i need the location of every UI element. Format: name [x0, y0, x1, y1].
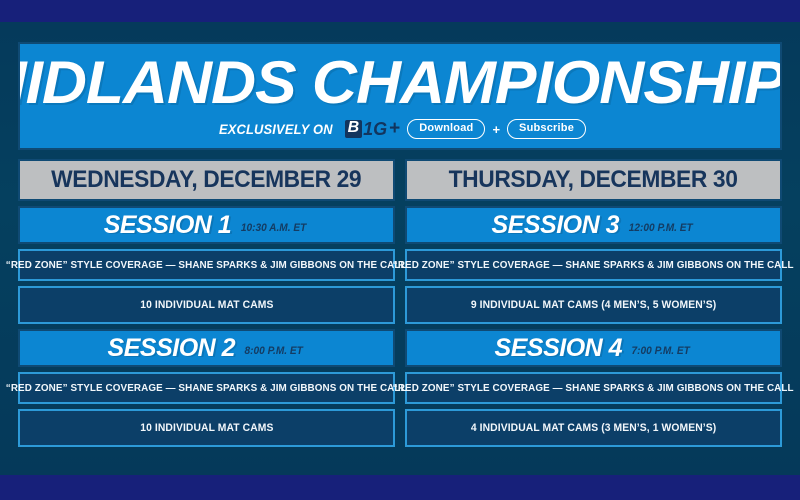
session-coverage-2: “RED ZONE” STYLE COVERAGE — SHANE SPARKS… — [18, 372, 395, 404]
session-header-4: SESSION 4 7:00 P.M. ET — [405, 329, 782, 367]
session-name: SESSION 1 — [104, 211, 232, 240]
matcams-label: 4 INDIVIDUAL MAT CAMS (3 MEN’S, 1 WOMEN’… — [471, 422, 716, 434]
session-matcams-1: 10 INDIVIDUAL MAT CAMS — [18, 286, 395, 324]
session-name: SESSION 4 — [495, 334, 623, 363]
schedule-field: MIDLANDS CHAMPIONSHIPS EXCLUSIVELY ON B1… — [0, 22, 800, 475]
title-banner: MIDLANDS CHAMPIONSHIPS EXCLUSIVELY ON B1… — [18, 42, 782, 150]
exclusively-on-label: EXCLUSIVELY ON — [219, 121, 333, 137]
session-time: 7:00 P.M. ET — [632, 345, 690, 357]
session-coverage-1: “RED ZONE” STYLE COVERAGE — SHANE SPARKS… — [18, 249, 395, 281]
b1g-b-letter: B — [345, 120, 363, 138]
session-time: 8:00 P.M. ET — [245, 345, 303, 357]
matcams-label: 9 INDIVIDUAL MAT CAMS (4 MEN’S, 5 WOMEN’… — [471, 299, 716, 311]
day-header-thursday: THURSDAY, DECEMBER 30 — [405, 159, 782, 201]
subscribe-button[interactable]: Subscribe — [507, 119, 586, 139]
matcams-label: 10 INDIVIDUAL MAT CAMS — [140, 299, 273, 311]
session-matcams-3: 9 INDIVIDUAL MAT CAMS (4 MEN’S, 5 WOMEN’… — [405, 286, 782, 324]
coverage-label: “RED ZONE” STYLE COVERAGE — SHANE SPARKS… — [6, 259, 407, 271]
session-header-3: SESSION 3 12:00 P.M. ET — [405, 206, 782, 244]
day-column-wednesday: WEDNESDAY, DECEMBER 29 SESSION 1 10:30 A… — [18, 159, 395, 447]
session-time: 10:30 A.M. ET — [241, 222, 306, 234]
session-header-1: SESSION 1 10:30 A.M. ET — [18, 206, 395, 244]
b1g-plus-symbol: + — [389, 118, 400, 140]
session-time: 12:00 P.M. ET — [629, 222, 693, 234]
download-button[interactable]: Download — [407, 119, 485, 139]
session-header-2: SESSION 2 8:00 P.M. ET — [18, 329, 395, 367]
day-header-label: WEDNESDAY, DECEMBER 29 — [51, 166, 361, 194]
b1g-1g-text: 1G — [363, 120, 387, 138]
plus-separator: + — [492, 122, 500, 137]
session-name: SESSION 3 — [492, 211, 620, 240]
day-header-wednesday: WEDNESDAY, DECEMBER 29 — [18, 159, 395, 201]
session-coverage-3: “RED ZONE” STYLE COVERAGE — SHANE SPARKS… — [405, 249, 782, 281]
session-matcams-4: 4 INDIVIDUAL MAT CAMS (3 MEN’S, 1 WOMEN’… — [405, 409, 782, 447]
day-column-thursday: THURSDAY, DECEMBER 30 SESSION 3 12:00 P.… — [405, 159, 782, 447]
coverage-label: “RED ZONE” STYLE COVERAGE — SHANE SPARKS… — [6, 382, 407, 394]
promo-graphic: MIDLANDS CHAMPIONSHIPS EXCLUSIVELY ON B1… — [0, 0, 800, 500]
broadcast-line: EXCLUSIVELY ON B1G+ Download + Subscribe — [214, 118, 586, 140]
b1g-plus-logo: B1G+ — [345, 118, 401, 140]
day-header-label: THURSDAY, DECEMBER 30 — [449, 166, 738, 194]
session-name: SESSION 2 — [108, 334, 236, 363]
session-coverage-4: “RED ZONE” STYLE COVERAGE — SHANE SPARKS… — [405, 372, 782, 404]
page-title: MIDLANDS CHAMPIONSHIPS — [18, 54, 782, 111]
session-matcams-2: 10 INDIVIDUAL MAT CAMS — [18, 409, 395, 447]
schedule-grid: WEDNESDAY, DECEMBER 29 SESSION 1 10:30 A… — [18, 159, 782, 447]
coverage-label: “RED ZONE” STYLE COVERAGE — SHANE SPARKS… — [393, 259, 794, 271]
coverage-label: “RED ZONE” STYLE COVERAGE — SHANE SPARKS… — [393, 382, 794, 394]
matcams-label: 10 INDIVIDUAL MAT CAMS — [140, 422, 273, 434]
